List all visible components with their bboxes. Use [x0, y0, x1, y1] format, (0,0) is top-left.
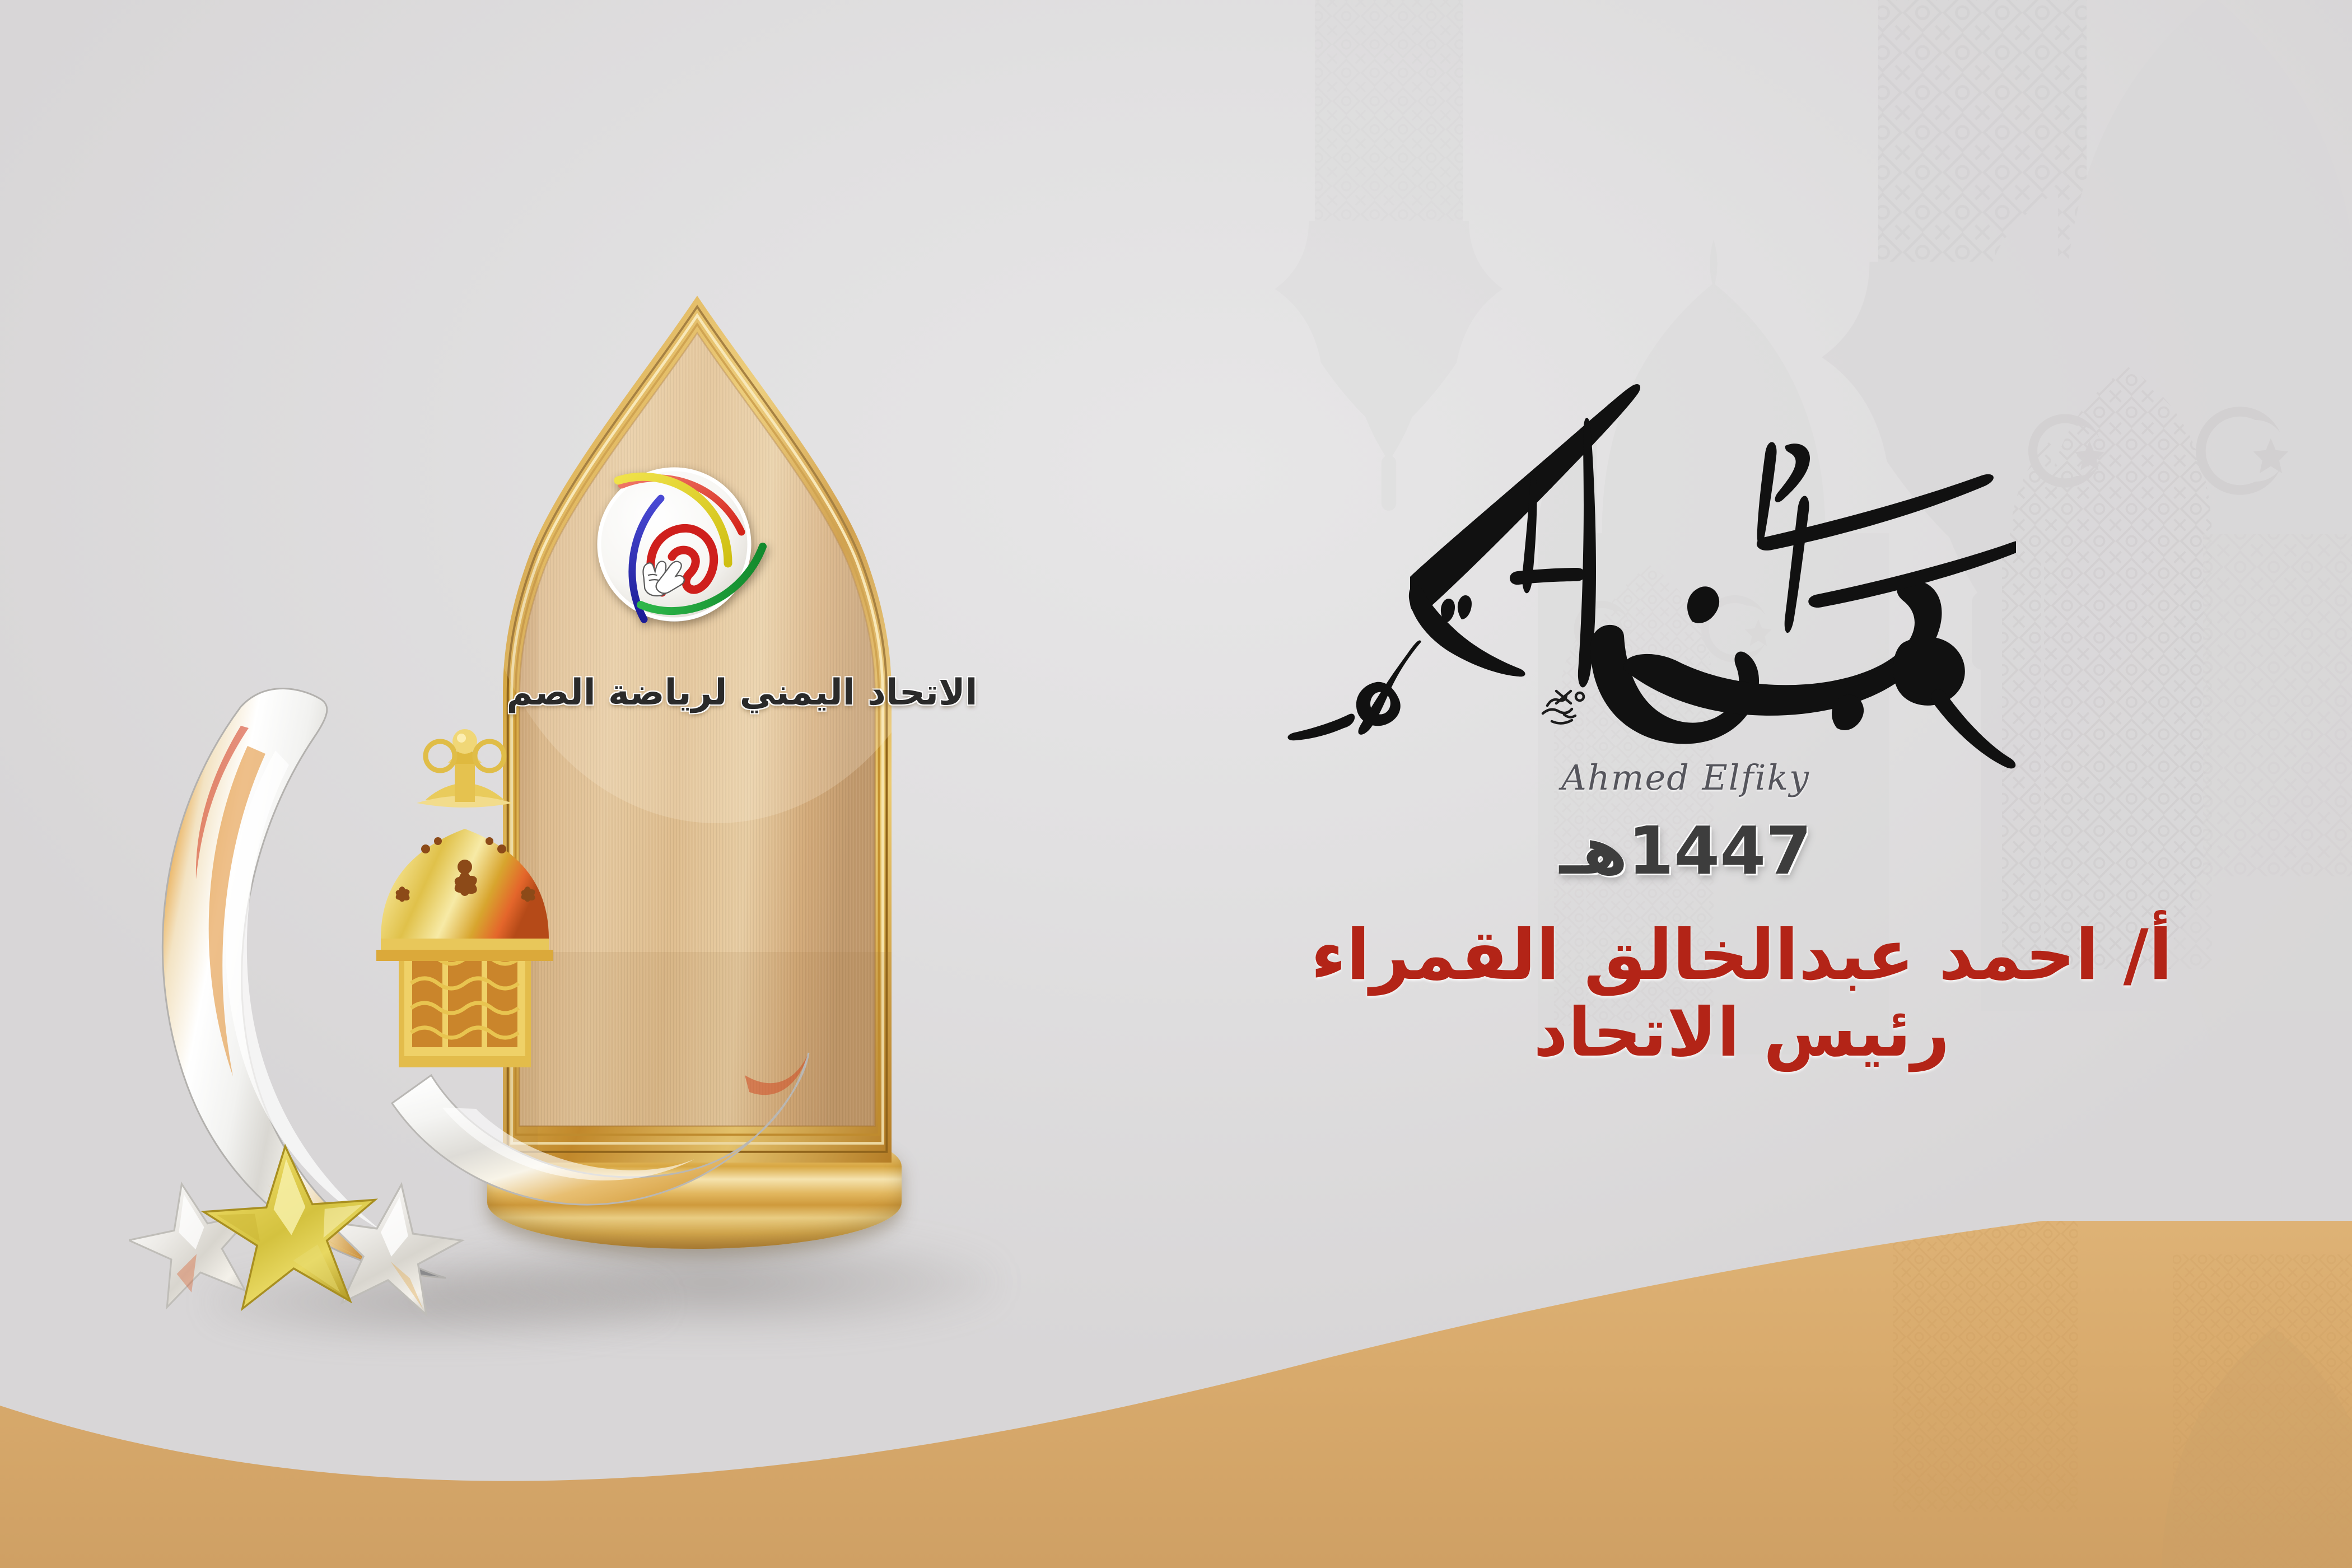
signatory-title: رئيس الاتحاد [1266, 996, 2218, 1071]
hijri-year-label: 1447هـ [1501, 812, 1870, 889]
calligraphy-artist-name: Ahmed Elfiky [1518, 757, 1854, 798]
greeting-panel: Ahmed Elfiky 1447هـ أ/ احمد عبدالخالق ال… [1277, 336, 2229, 1260]
federation-logo [578, 448, 771, 641]
calligrapher-seal-icon [1532, 672, 1599, 739]
greeting-card: الاتحاد اليمني لرياضة الصم [0, 0, 2352, 1568]
gold-lantern-shape [376, 729, 553, 1067]
signatory-block: أ/ احمد عبدالخالق القمراء رئيس الاتحاد [1266, 918, 2218, 1071]
glass-crescent-small [392, 1053, 809, 1205]
signatory-name: أ/ احمد عبدالخالق القمراء [1266, 918, 2218, 993]
ramadan-ornaments [129, 644, 913, 1372]
ramadan-kareem-calligraphy [1277, 336, 2016, 773]
